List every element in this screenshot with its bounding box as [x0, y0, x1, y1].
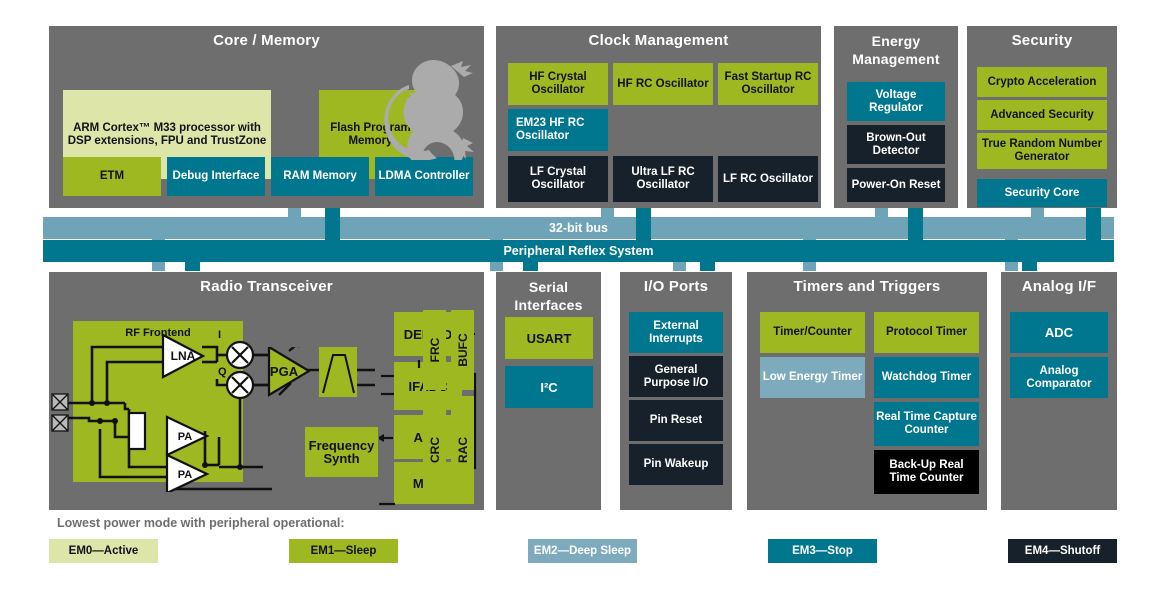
block-rac-label: RAC [456, 437, 470, 463]
block-analog-comparator[interactable]: Analog Comparator [1010, 357, 1108, 398]
block-advanced-security[interactable]: Advanced Security [977, 100, 1107, 130]
bus-peripheral-reflex-system: Peripheral Reflex System [43, 240, 1114, 262]
block-bufc-label: BUFC [456, 333, 470, 366]
block-brown-out-detector[interactable]: Brown-Out Detector [847, 125, 945, 164]
block-timer-counter[interactable]: Timer/Counter [760, 312, 865, 353]
bus-stub-dark [185, 262, 200, 271]
block-adc[interactable]: ADC [1010, 312, 1108, 353]
legend-item-em3[interactable]: EM3—Stop [768, 539, 877, 563]
bus-stub-light [152, 262, 165, 271]
block-true-random-number-generator[interactable]: True Random Number Generator [977, 133, 1107, 169]
bus-stub-light [803, 262, 816, 271]
block-protocol-timer[interactable]: Protocol Timer [874, 312, 979, 353]
block-etm[interactable]: ETM [63, 157, 161, 196]
bus-stub-dark [700, 262, 715, 271]
bus-stub-dark [325, 208, 340, 217]
panel-title-core-memory: Core / Memory [49, 32, 484, 50]
block-ultra-lf-rc-oscillator[interactable]: Ultra LF RC Oscillator [613, 156, 713, 202]
panel-analog-if: Analog I/F ADC Analog Comparator [1001, 272, 1117, 510]
panel-title-analog-if: Analog I/F [1001, 278, 1117, 296]
panel-clock-management: Clock Management HF Crystal Oscillator H… [496, 26, 821, 208]
panel-title-timers-and-triggers: Timers and Triggers [747, 278, 987, 296]
block-ldma-controller[interactable]: LDMA Controller [375, 157, 473, 196]
block-em23-hf-rc-oscillator[interactable]: EM23 HF RC Oscillator [508, 109, 608, 151]
legend-caption: Lowest power mode with peripheral operat… [57, 516, 345, 530]
panel-energy-management: Energy Management Voltage Regulator Brow… [834, 26, 958, 208]
bus-stub-dark [1022, 262, 1037, 271]
block-pin-wakeup[interactable]: Pin Wakeup [629, 444, 723, 485]
svg-text:Q: Q [218, 366, 227, 378]
block-watchdog-timer[interactable]: Watchdog Timer [874, 357, 979, 398]
panel-security: Security Crypto Acceleration Advanced Se… [967, 26, 1117, 208]
bus-prs-label: Peripheral Reflex System [503, 244, 653, 258]
bus-32bit: 32-bit bus [43, 217, 1114, 239]
bus-stub-dark [636, 208, 651, 217]
bus-stub-light [1005, 262, 1018, 271]
block-fast-startup-rc-oscillator[interactable]: Fast Startup RC Oscillator [718, 63, 818, 105]
legend-item-em1[interactable]: EM1—Sleep [289, 539, 398, 563]
panel-io-ports: I/O Ports External Interrupts General Pu… [620, 272, 732, 510]
block-lf-rc-oscillator[interactable]: LF RC Oscillator [718, 156, 818, 202]
block-hf-rc-oscillator[interactable]: HF RC Oscillator [613, 63, 713, 105]
block-frequency-synth[interactable]: Frequency Synth [305, 427, 378, 477]
block-voltage-regulator[interactable]: Voltage Regulator [847, 82, 945, 121]
block-lf-crystal-oscillator[interactable]: LF Crystal Oscillator [508, 156, 608, 202]
svg-text:LNA: LNA [171, 349, 196, 363]
bus-stub-dark [523, 262, 538, 271]
panel-title-energy-management: Energy Management [834, 32, 958, 68]
panel-title-security: Security [967, 32, 1117, 50]
block-crc[interactable]: CRC [423, 396, 446, 504]
svg-text:PA: PA [178, 469, 193, 481]
block-i2c[interactable]: I²C [505, 366, 593, 408]
panel-title-io-ports: I/O Ports [620, 278, 732, 296]
bus-stub-light [601, 208, 614, 217]
panel-serial-interfaces: Serial Interfaces USART I²C [496, 272, 601, 510]
svg-text:I: I [218, 329, 221, 341]
block-security-core[interactable]: Security Core [977, 179, 1107, 207]
block-debug-interface[interactable]: Debug Interface [167, 157, 265, 196]
panel-timers-and-triggers: Timers and Triggers Timer/Counter Protoc… [747, 272, 987, 510]
block-bufc[interactable]: BUFC [451, 310, 474, 390]
block-frc-label: FRC [428, 338, 442, 363]
block-frc[interactable]: FRC [423, 310, 446, 390]
svg-text:PA: PA [178, 431, 193, 443]
panel-title-serial-interfaces: Serial Interfaces [496, 278, 601, 314]
legend-item-em4[interactable]: EM4—Shutoff [1008, 539, 1117, 563]
panel-title-clock-management: Clock Management [496, 32, 821, 50]
svg-text:PGA: PGA [270, 364, 299, 379]
block-crc-label: CRC [428, 437, 442, 463]
bus-stub-light [490, 262, 503, 271]
panel-radio-transceiver: Radio Transceiver RF Frontend [49, 272, 484, 510]
block-hf-crystal-oscillator[interactable]: HF Crystal Oscillator [508, 63, 608, 105]
legend-item-em0[interactable]: EM0—Active [49, 539, 158, 563]
block-real-time-capture-counter[interactable]: Real Time Capture Counter [874, 402, 979, 446]
panel-core-memory: Core / Memory ARM Cortex™ M33 processor … [49, 26, 484, 208]
block-power-on-reset[interactable]: Power-On Reset [847, 168, 945, 202]
block-usart[interactable]: USART [505, 317, 593, 359]
block-external-interrupts[interactable]: External Interrupts [629, 312, 723, 353]
block-ram-memory[interactable]: RAM Memory [271, 157, 369, 196]
bus-stub-dark [1086, 208, 1101, 217]
bus-stub-light [875, 208, 888, 217]
bus-stub-dark [908, 208, 923, 217]
bus-stub-light [673, 262, 686, 271]
gecko-logo [371, 52, 481, 160]
block-rac[interactable]: RAC [451, 396, 474, 504]
bus-stub-light [288, 208, 301, 217]
block-crypto-acceleration[interactable]: Crypto Acceleration [977, 67, 1107, 97]
block-pin-reset[interactable]: Pin Reset [629, 400, 723, 441]
panel-title-radio-transceiver: Radio Transceiver [49, 278, 484, 296]
bus-stub-light [1031, 208, 1044, 217]
legend-item-em2[interactable]: EM2—Deep Sleep [528, 539, 637, 563]
block-general-purpose-io[interactable]: General Purpose I/O [629, 356, 723, 397]
block-backup-real-time-counter[interactable]: Back-Up Real Time Counter [874, 450, 979, 494]
block-low-energy-timer[interactable]: Low Energy Timer [760, 357, 865, 398]
bus-32bit-label: 32-bit bus [549, 221, 608, 235]
